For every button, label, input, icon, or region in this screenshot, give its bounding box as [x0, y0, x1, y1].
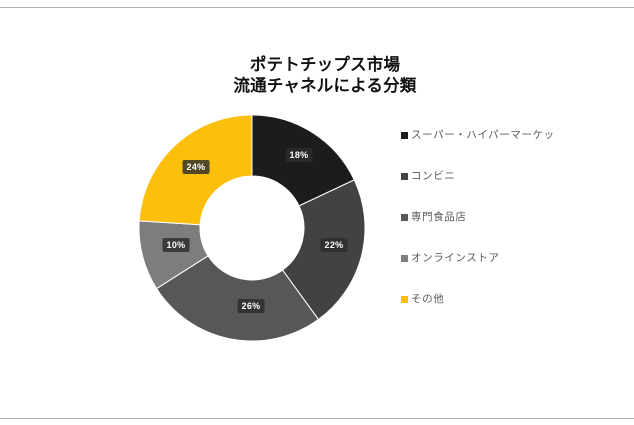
bottom-divider-rule: [0, 418, 634, 419]
legend-item-label: コンビニ: [411, 170, 455, 182]
segment-value-label: 10%: [163, 238, 190, 252]
chart-legend: スーパー・ハイパーマーケッコンビニ専門食品店オンラインストアその他: [401, 129, 626, 334]
legend-swatch-icon: [401, 173, 408, 180]
segment-value-label: 18%: [286, 148, 313, 162]
legend-swatch-icon: [401, 255, 408, 262]
legend-item[interactable]: その他: [401, 293, 626, 334]
legend-item-label: 専門食品店: [411, 211, 467, 223]
chart-title-line-1: ポテトチップス市場: [107, 55, 543, 76]
legend-swatch-icon: [401, 214, 408, 221]
segment-value-label: 26%: [238, 299, 265, 313]
chart-title-line-2: 流通チャネルによる分類: [107, 76, 543, 97]
segment-value-label: 24%: [183, 160, 210, 174]
segment-value-label: 22%: [321, 238, 348, 252]
legend-item-label: オンラインストア: [411, 252, 500, 264]
legend-swatch-icon: [401, 132, 408, 139]
legend-item[interactable]: オンラインストア: [401, 252, 626, 293]
legend-item-label: その他: [411, 293, 444, 305]
legend-item[interactable]: 専門食品店: [401, 211, 626, 252]
legend-item-label: スーパー・ハイパーマーケッ: [411, 129, 555, 141]
legend-swatch-icon: [401, 296, 408, 303]
top-divider-rule: [0, 7, 634, 8]
legend-item[interactable]: スーパー・ハイパーマーケッ: [401, 129, 626, 170]
chart-title: ポテトチップス市場 流通チャネルによる分類: [107, 55, 543, 97]
legend-item[interactable]: コンビニ: [401, 170, 626, 211]
slide-canvas: ポテトチップス市場 流通チャネルによる分類 18%22%26%10%24% スー…: [0, 0, 634, 425]
